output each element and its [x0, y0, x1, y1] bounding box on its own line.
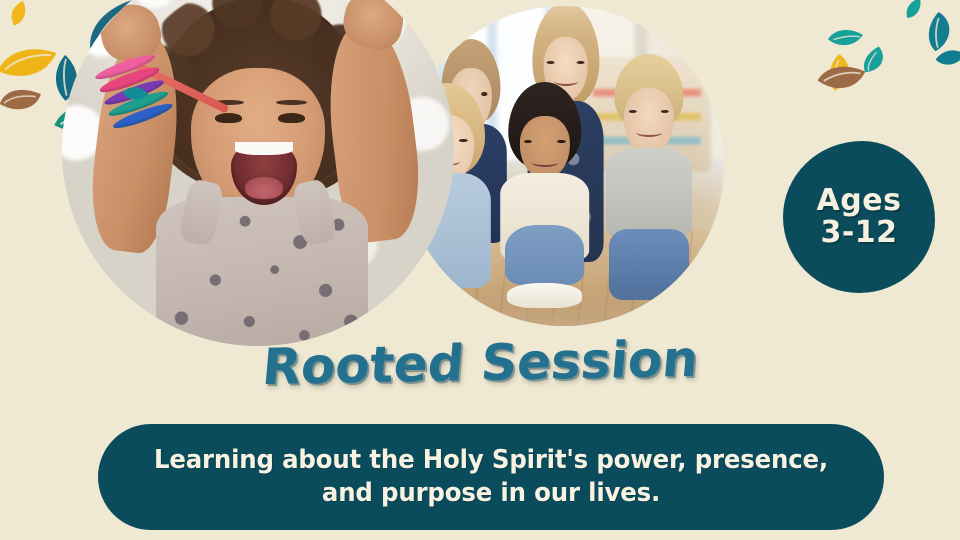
leaf-brown-2-icon	[814, 57, 868, 100]
ages-badge-line1: Ages	[817, 185, 902, 217]
ages-badge: Ages 3-12	[783, 141, 935, 293]
leaf-gold-2-icon	[3, 0, 36, 30]
photo-child-cheering	[62, 0, 454, 346]
leaf-teal-5-icon	[825, 20, 866, 56]
poster-canvas: Ages 3-12 Rooted Session Learning about …	[0, 0, 960, 540]
leaf-gold-3-icon	[823, 51, 857, 94]
ages-badge-line2: 3-12	[820, 217, 897, 249]
description-banner-text: Learning about the Holy Spirit's power, …	[146, 444, 836, 511]
leaf-teal-8-icon	[932, 41, 960, 75]
page-title: Rooted Session	[0, 338, 960, 388]
leaf-gold-1-icon	[0, 32, 59, 93]
leaf-teal-7-icon	[921, 8, 960, 55]
leaf-teal-6-icon	[859, 42, 891, 79]
page-title-text: Rooted Session	[260, 334, 700, 392]
leaf-teal-9-icon	[899, 0, 928, 22]
leaf-brown-1-icon	[0, 81, 43, 120]
description-banner: Learning about the Holy Spirit's power, …	[98, 424, 884, 530]
